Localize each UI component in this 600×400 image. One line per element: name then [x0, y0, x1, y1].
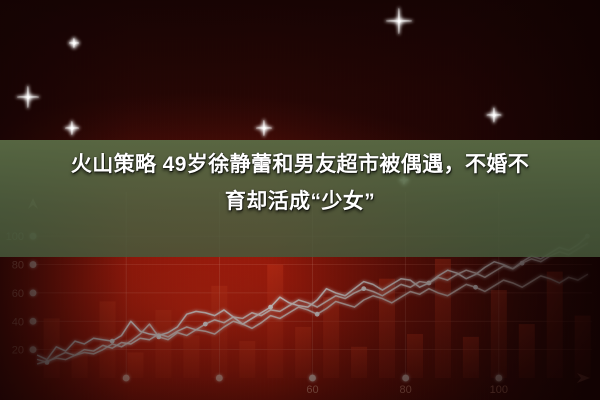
image-canvas: 204060801006080100 火山策略 49岁徐静蕾和男友超市被偶遇，不… — [0, 0, 600, 400]
headline-line-1: 火山策略 49岁徐静蕾和男友超市被偶遇，不婚不 — [71, 146, 529, 183]
headline-line-2: 育却活成“少女” — [225, 183, 375, 220]
headline-banner: 火山策略 49岁徐静蕾和男友超市被偶遇，不婚不 育却活成“少女” — [0, 140, 600, 257]
